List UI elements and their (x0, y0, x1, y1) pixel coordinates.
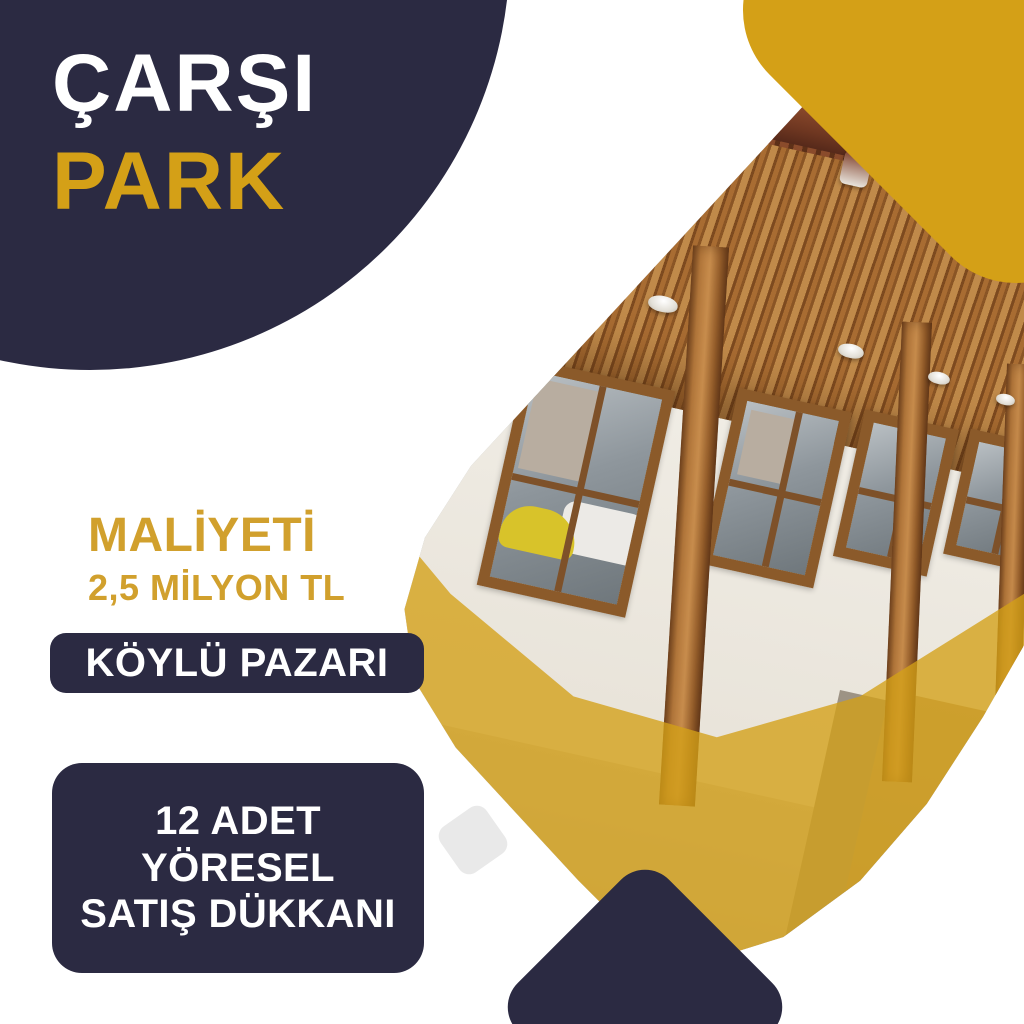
cost-block: MALİYETİ 2,5 MİLYON TL (88, 512, 345, 606)
brand-wordmark: ÇARŞI PARK (52, 42, 317, 223)
shops-card-line-3: SATIŞ DÜKKANI (80, 891, 396, 937)
market-pill-label: KÖYLÜ PAZARI (85, 643, 388, 683)
cost-title: MALİYETİ (88, 512, 345, 560)
brand-line-park: PARK (52, 140, 317, 224)
market-pill: KÖYLÜ PAZARI (50, 633, 424, 693)
brand-line-carsi: ÇARŞI (52, 42, 317, 126)
poster-canvas: ÇARŞI PARK MALİYETİ 2,5 MİLYON TL KÖYLÜ … (0, 0, 1024, 1024)
cost-amount: 2,5 MİLYON TL (88, 570, 345, 606)
shops-card-line-2: YÖRESEL (141, 845, 335, 891)
navy-header-fill (0, 0, 5, 346)
shops-card-line-1: 12 ADET (155, 798, 321, 844)
shops-card: 12 ADET YÖRESEL SATIŞ DÜKKANI (52, 763, 424, 973)
gray-diamond-decor (434, 801, 512, 879)
